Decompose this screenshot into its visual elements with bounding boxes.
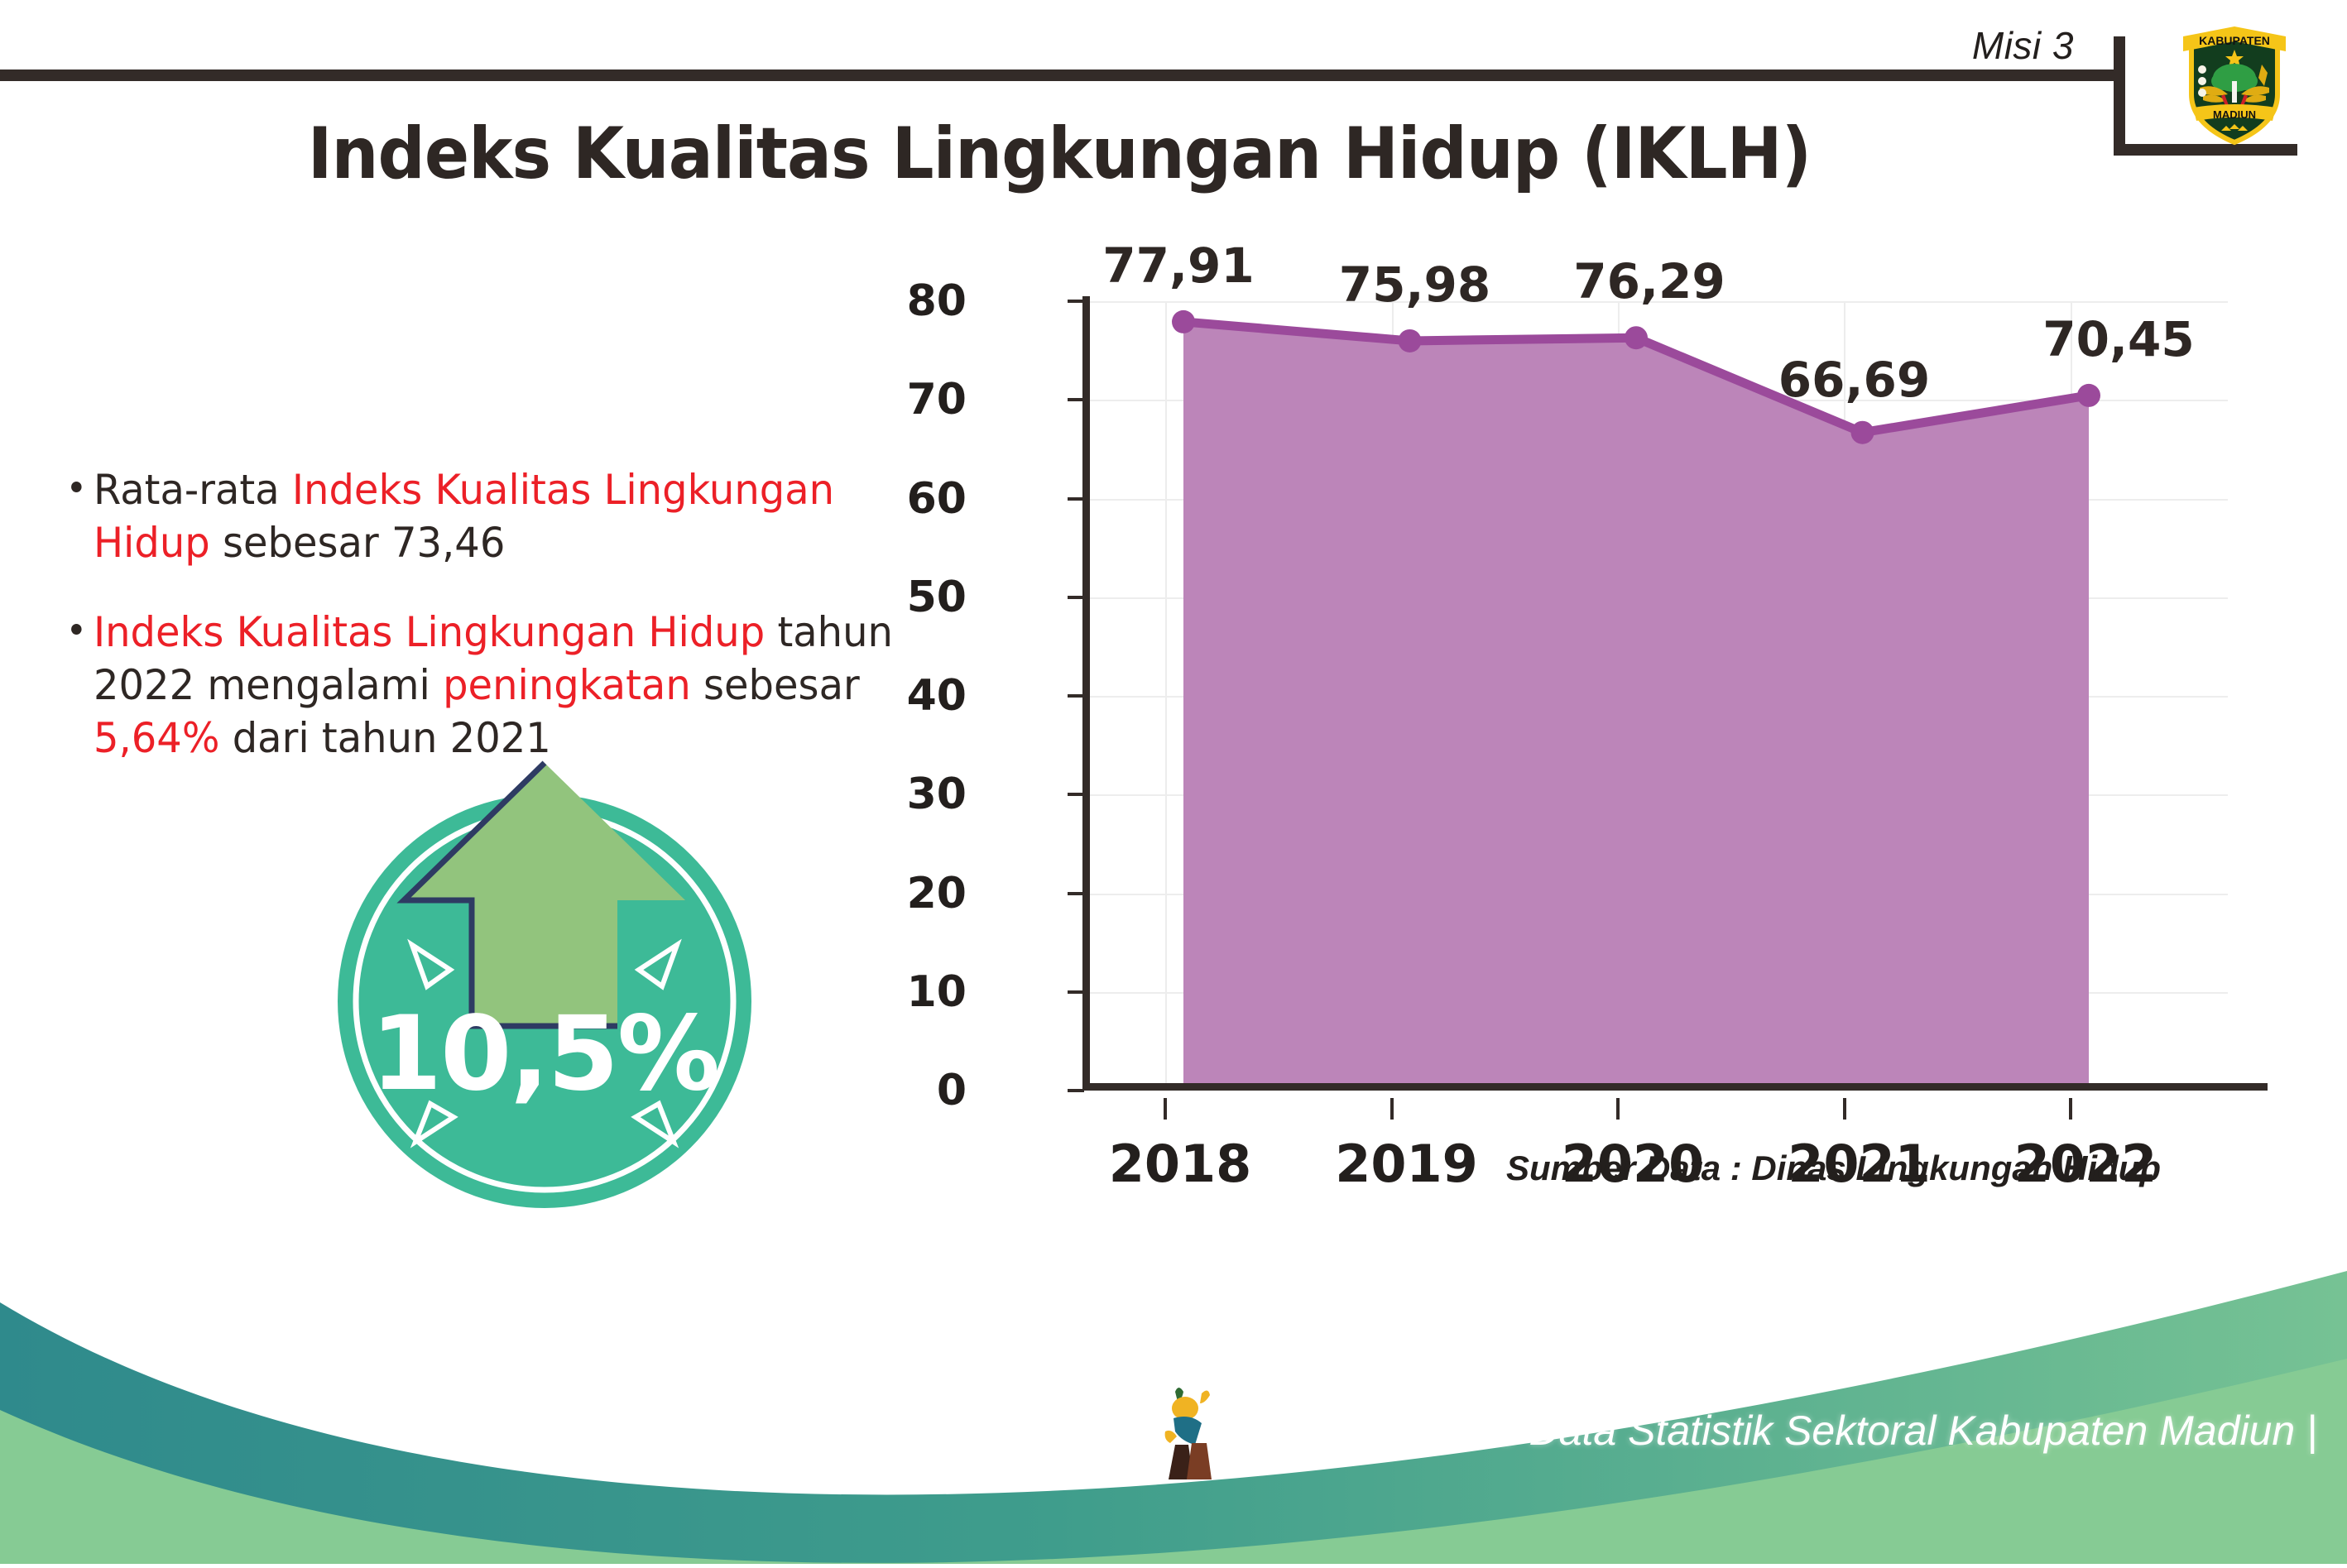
y-axis-tick-mark bbox=[1068, 300, 1084, 303]
footer-text: Media Infografis Data Statistik Sektoral… bbox=[1223, 1407, 2317, 1455]
y-axis-line bbox=[1082, 296, 1090, 1091]
page-title: Indeks Kualitas Lingkungan Hidup (IKLH) bbox=[74, 113, 2045, 195]
increase-badge: 10,5% bbox=[329, 753, 760, 1216]
y-axis-tick-label: 50 bbox=[867, 573, 967, 622]
y-axis-tick-label: 40 bbox=[867, 671, 967, 721]
y-axis-tick-label: 20 bbox=[867, 869, 967, 918]
bullet-list: Rata-rata Indeks Kualitas Lingkungan Hid… bbox=[73, 463, 967, 801]
y-axis-tick-mark bbox=[1068, 596, 1084, 599]
list-item: Indeks Kualitas Lingkungan Hidup tahun 2… bbox=[73, 606, 931, 765]
data-point-marker bbox=[1172, 310, 1195, 333]
x-axis-tick-mark bbox=[1164, 1098, 1167, 1120]
y-axis-tick-mark bbox=[1068, 1089, 1084, 1092]
area-fill bbox=[1183, 322, 2089, 1091]
y-axis-tick-label: 10 bbox=[867, 967, 967, 1017]
footer: Media Infografis Data Statistik Sektoral… bbox=[0, 1233, 2347, 1564]
x-axis-line bbox=[1082, 1083, 2268, 1091]
iklh-area-chart: 77,9175,9876,2966,6970,45 01020304050607… bbox=[977, 290, 2268, 1216]
data-point-marker bbox=[1399, 329, 1422, 352]
y-axis-tick-mark bbox=[1068, 497, 1084, 501]
emblem-bottom-banner-text: MADIUN bbox=[2213, 108, 2256, 121]
media-infografis-logo-icon bbox=[1150, 1380, 1230, 1481]
data-point-marker bbox=[1851, 421, 1874, 444]
chart-series bbox=[1086, 301, 2228, 1091]
highlight-text: peningkatan bbox=[443, 661, 691, 709]
data-point-label: 77,91 bbox=[1102, 237, 1254, 294]
y-axis-tick-mark bbox=[1068, 990, 1084, 994]
y-axis-tick-label: 70 bbox=[867, 375, 967, 424]
x-axis-tick-mark bbox=[1616, 1098, 1620, 1120]
data-point-marker bbox=[2077, 384, 2100, 407]
x-axis-tick-mark bbox=[2069, 1098, 2072, 1120]
highlight-text: Indeks Kualitas Lingkungan Hidup bbox=[94, 608, 765, 656]
data-point-label: 66,69 bbox=[1778, 352, 1930, 408]
y-axis-tick-mark bbox=[1068, 694, 1084, 698]
x-axis-tick-label: 2018 bbox=[1109, 1134, 1252, 1194]
y-axis-tick-label: 0 bbox=[867, 1066, 967, 1115]
y-axis-tick-label: 80 bbox=[867, 276, 967, 326]
y-axis-tick-mark bbox=[1068, 398, 1084, 401]
data-point-label: 70,45 bbox=[2042, 311, 2194, 367]
bullet-text: Rata-rata Indeks Kualitas Lingkungan Hid… bbox=[73, 463, 931, 569]
source-note: Sumber Data : Dinas Lingkungan Hidup bbox=[1506, 1148, 2161, 1188]
plain-text: Rata-rata bbox=[94, 466, 292, 514]
data-point-label: 75,98 bbox=[1339, 257, 1490, 313]
data-point-marker bbox=[1625, 326, 1648, 349]
misi-label: Misi 3 bbox=[1972, 23, 2074, 68]
emblem-top-banner-text: KABUPATEN bbox=[2199, 34, 2270, 47]
badge-value: 10,5% bbox=[329, 995, 760, 1114]
bullet-text: Indeks Kualitas Lingkungan Hidup tahun 2… bbox=[73, 606, 931, 765]
data-point-label: 76,29 bbox=[1573, 253, 1725, 309]
plain-text: sebesar bbox=[691, 661, 860, 709]
kabupaten-madiun-coat-of-arms-icon: KABUPATEN MADIUN bbox=[2175, 15, 2294, 147]
x-axis-tick-label: 2019 bbox=[1335, 1134, 1478, 1194]
y-axis-tick-label: 60 bbox=[867, 474, 967, 524]
bullet-dot bbox=[71, 482, 81, 492]
y-axis-tick-mark bbox=[1068, 892, 1084, 895]
list-item: Rata-rata Indeks Kualitas Lingkungan Hid… bbox=[73, 463, 931, 569]
chart-plot-area: 77,9175,9876,2966,6970,45 bbox=[1086, 301, 2228, 1091]
x-axis-tick-mark bbox=[1390, 1098, 1394, 1120]
highlight-text: 5,64% bbox=[94, 714, 219, 762]
x-axis-tick-mark bbox=[1843, 1098, 1846, 1120]
header-divider-rule bbox=[0, 70, 2119, 81]
y-axis-tick-mark bbox=[1068, 793, 1084, 796]
y-axis-tick-label: 30 bbox=[867, 770, 967, 819]
bullet-dot bbox=[71, 624, 81, 635]
header-bracket-vertical bbox=[2114, 36, 2125, 156]
plain-text: sebesar 73,46 bbox=[210, 519, 506, 567]
